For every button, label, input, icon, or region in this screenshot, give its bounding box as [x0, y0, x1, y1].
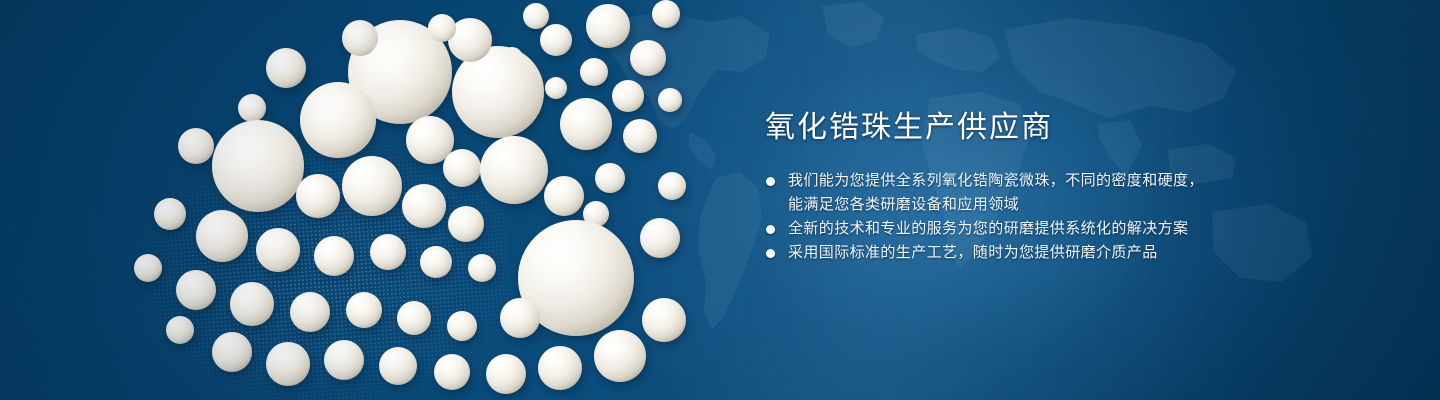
- list-item: 采用国际标准的生产工艺，随时为您提供研磨介质产品: [765, 241, 1405, 265]
- list-item-text: 采用国际标准的生产工艺，随时为您提供研磨介质产品: [788, 241, 1405, 265]
- bullet-dot-icon: [766, 249, 775, 258]
- bullet-dot-icon: [766, 225, 775, 234]
- list-item-text: 我们能为您提供全系列氧化锆陶瓷微珠，不同的密度和硬度，: [788, 169, 1405, 193]
- feature-list: 我们能为您提供全系列氧化锆陶瓷微珠，不同的密度和硬度， 能满足您各类研磨设备和应…: [765, 169, 1405, 265]
- list-item-text-continued: 能满足您各类研磨设备和应用领域: [788, 193, 1405, 217]
- page-title: 氧化锆珠生产供应商: [765, 108, 1405, 148]
- list-item: 全新的技术和专业的服务为您的研磨提供系统化的解决方案: [765, 217, 1405, 241]
- hero-banner: 氧化锆珠生产供应商 我们能为您提供全系列氧化锆陶瓷微珠，不同的密度和硬度， 能满…: [0, 0, 1440, 400]
- list-item-text: 全新的技术和专业的服务为您的研磨提供系统化的解决方案: [788, 217, 1405, 241]
- bullet-dot-icon: [766, 177, 775, 186]
- banner-content: 氧化锆珠生产供应商 我们能为您提供全系列氧化锆陶瓷微珠，不同的密度和硬度， 能满…: [765, 108, 1405, 265]
- list-item: 我们能为您提供全系列氧化锆陶瓷微珠，不同的密度和硬度， 能满足您各类研磨设备和应…: [765, 169, 1405, 217]
